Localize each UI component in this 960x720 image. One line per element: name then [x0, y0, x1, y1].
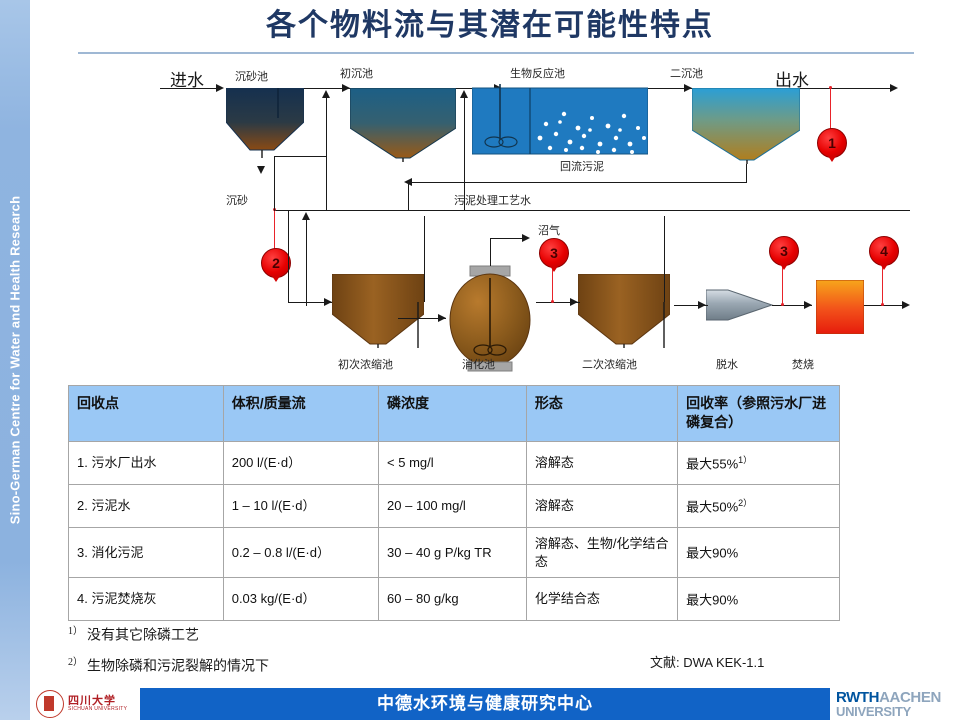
marker-1[interactable]: 1 — [817, 128, 847, 158]
cell-rate-value: 最大90% — [686, 592, 738, 607]
marker-4[interactable]: 4 — [869, 236, 899, 266]
sichuan-text: 四川大学 SICHUAN UNIVERSITY — [68, 696, 127, 713]
label-primary-thickener: 初次浓缩池 — [338, 356, 393, 372]
rwth-mark: RWTH — [836, 689, 879, 706]
arrow-to-primary — [342, 84, 350, 92]
arrow-influent — [216, 84, 224, 92]
line-process-water — [274, 210, 910, 211]
cell-conc: 20 – 100 mg/l — [379, 485, 527, 528]
marker-3-digested-sludge[interactable]: 3 — [539, 238, 569, 268]
arrow-to-digester — [438, 314, 446, 322]
col-header-point: 回收点 — [69, 386, 224, 442]
marker-4-label: 4 — [880, 243, 888, 259]
tank-bio-reactor — [472, 84, 648, 158]
page-title: 各个物料流与其潜在可能性特点 — [250, 4, 730, 48]
line-thickener1-return — [306, 216, 307, 306]
marker4-stem — [882, 264, 883, 305]
footnote-2-text: 生物除磷和污泥裂解的情况下 — [87, 660, 269, 675]
line-return-sludge-drop — [408, 182, 409, 210]
sichuan-name-en: SICHUAN UNIVERSITY — [68, 707, 127, 712]
arrow-riser-primary — [322, 90, 330, 98]
label-secondary-clarifier: 二沉池 — [670, 65, 703, 81]
cell-flow: 200 l/(E·d） — [223, 442, 378, 485]
table-row: 1. 污水厂出水 200 l/(E·d） < 5 mg/l 溶解态 最大55%1… — [69, 442, 840, 485]
label-biogas: 沼气 — [538, 222, 560, 238]
unit-dewatering — [706, 284, 776, 326]
cell-rate-value: 最大50% — [686, 499, 738, 514]
tank-primary-clarifier — [350, 88, 456, 162]
marker3b-tap — [781, 303, 784, 306]
source-reference: 文献: DWA KEK-1.1 — [650, 652, 764, 671]
cell-conc: < 5 mg/l — [379, 442, 527, 485]
marker2-stem — [274, 210, 275, 250]
col-header-form: 形态 — [526, 386, 677, 442]
cell-conc: 60 – 80 g/kg — [379, 578, 527, 621]
arrow-to-incin — [804, 301, 812, 309]
rwth-aachen-logo: RWTHAACHEN UNIVERSITY — [836, 688, 960, 720]
marker3a-tap — [551, 300, 554, 303]
marker-2[interactable]: 2 — [261, 248, 291, 278]
label-incineration: 焚烧 — [792, 356, 814, 372]
line-grit-bottom-h — [274, 156, 326, 157]
slide-root: Sino-German Centre for Water and Health … — [0, 0, 960, 720]
rwth-line1: RWTHAACHEN — [836, 690, 960, 705]
sidebar-vertical-label: Sino-German Centre for Water and Health … — [8, 196, 23, 524]
table-row: 4. 污泥焚烧灰 0.03 kg/(E·d） 60 – 80 g/kg 化学结合… — [69, 578, 840, 621]
col-header-conc: 磷浓度 — [379, 386, 527, 442]
marker-3a-label: 3 — [550, 245, 558, 261]
line-thickener1-feed — [288, 210, 289, 302]
cell-form: 溶解态、生物/化学结合态 — [526, 528, 677, 578]
cell-rate-sup: 1） — [738, 455, 752, 465]
sichuan-university-logo: 四川大学 SICHUAN UNIVERSITY — [36, 688, 140, 720]
arrow-grit-down — [257, 166, 265, 174]
arrow-riser-bio — [460, 90, 468, 98]
col-header-flow: 体积/质量流 — [223, 386, 378, 442]
footnote-1-marker: 1） — [68, 626, 83, 637]
rwth-city: AACHEN — [879, 689, 941, 706]
arrow-to-thickener2 — [570, 298, 578, 306]
line-thickener2-return — [664, 216, 665, 302]
tank-secondary-clarifier — [692, 88, 800, 164]
tank-grit-chamber — [226, 88, 304, 158]
marker1-stem — [830, 88, 831, 130]
footnote-2: 2）生物除磷和污泥裂解的情况下 — [68, 653, 269, 676]
cell-flow: 1 – 10 l/(E·d） — [223, 485, 378, 528]
cell-point: 1. 污水厂出水 — [69, 442, 224, 485]
cell-rate-value: 最大55% — [686, 456, 738, 471]
cell-point: 4. 污泥焚烧灰 — [69, 578, 224, 621]
cell-rate-value: 最大90% — [686, 545, 738, 560]
line-return-sludge-riser — [746, 164, 747, 183]
footnote-1: 1）没有其它除磷工艺 — [68, 622, 199, 645]
cell-conc: 30 – 40 g P/kg TR — [379, 528, 527, 578]
sidebar-inner: Sino-German Centre for Water and Health … — [0, 0, 30, 720]
cell-flow: 0.2 – 0.8 l/(E·d） — [223, 528, 378, 578]
tank-primary-thickener — [332, 274, 424, 348]
cell-point: 3. 消化污泥 — [69, 528, 224, 578]
arrow-into-thickener1 — [324, 298, 332, 306]
marker-1-label: 1 — [828, 135, 836, 151]
cell-rate: 最大55%1） — [678, 442, 840, 485]
cell-point: 2. 污泥水 — [69, 485, 224, 528]
label-grit-chamber: 沉砂池 — [235, 68, 268, 84]
arrow-thickener1-return — [302, 212, 310, 220]
footnote-1-text: 没有其它除磷工艺 — [87, 629, 199, 644]
cell-form: 溶解态 — [526, 442, 677, 485]
cell-rate: 最大90% — [678, 578, 840, 621]
label-bio-reactor: 生物反应池 — [510, 65, 565, 81]
line-biogas — [490, 238, 524, 239]
cell-rate: 最大90% — [678, 528, 840, 578]
marker-2-label: 2 — [272, 255, 280, 271]
cell-rate-sup: 2） — [738, 498, 752, 508]
label-digester: 消化池 — [462, 356, 495, 372]
line-thickener-return-mid — [424, 216, 425, 302]
footnote-2-marker: 2） — [68, 657, 83, 668]
arrow-to-secondary — [684, 84, 692, 92]
cell-form: 溶解态 — [526, 485, 677, 528]
rwth-line2: UNIVERSITY — [836, 705, 960, 719]
line-grit-bottom-down — [274, 156, 275, 211]
cell-flow: 0.03 kg/(E·d） — [223, 578, 378, 621]
arrow-effluent — [890, 84, 898, 92]
marker3b-stem — [782, 264, 783, 305]
label-process-water: 污泥处理工艺水 — [454, 192, 531, 208]
label-secondary-thickener: 二次浓缩池 — [582, 356, 637, 372]
line-effluent — [800, 88, 896, 89]
label-dewatering: 脱水 — [716, 356, 738, 372]
label-primary-clarifier: 初沉池 — [340, 65, 373, 81]
label-grit: 沉砂 — [226, 192, 248, 208]
marker4-tap — [881, 303, 884, 306]
table-row: 3. 消化污泥 0.2 – 0.8 l/(E·d） 30 – 40 g P/kg… — [69, 528, 840, 578]
title-divider — [78, 52, 914, 54]
tank-secondary-thickener — [578, 274, 670, 348]
cell-form: 化学结合态 — [526, 578, 677, 621]
line-biogas-riser — [490, 238, 491, 266]
marker-3-dewatered[interactable]: 3 — [769, 236, 799, 266]
cell-rate: 最大50%2） — [678, 485, 840, 528]
label-return-sludge: 回流污泥 — [560, 158, 604, 174]
marker1-tap — [829, 86, 832, 89]
process-flow-diagram: 进水 沉砂池 初沉池 生物反应池 二沉池 出水 沉砂 — [30, 56, 960, 376]
arrow-incin-out — [902, 301, 910, 309]
sidebar-brand-band: Sino-German Centre for Water and Health … — [0, 0, 30, 720]
line-riser-primary — [326, 94, 327, 210]
recovery-table: 回收点 体积/质量流 磷浓度 形态 回收率（参照污水厂进磷复合） 1. 污水厂出… — [68, 385, 840, 621]
col-header-rate: 回收率（参照污水厂进磷复合） — [678, 386, 840, 442]
footer-center-label: 中德水环境与健康研究中心 — [140, 688, 830, 720]
table-header-row: 回收点 体积/质量流 磷浓度 形态 回收率（参照污水厂进磷复合） — [69, 386, 840, 442]
sichuan-seal-icon — [36, 690, 64, 718]
line-influent — [160, 88, 218, 89]
unit-incinerator — [816, 280, 864, 334]
arrow-to-dewatering — [698, 301, 706, 309]
marker-3b-label: 3 — [780, 243, 788, 259]
arrow-biogas — [522, 234, 530, 242]
table-row: 2. 污泥水 1 – 10 l/(E·d） 20 – 100 mg/l 溶解态 … — [69, 485, 840, 528]
line-return-sludge — [408, 182, 746, 183]
